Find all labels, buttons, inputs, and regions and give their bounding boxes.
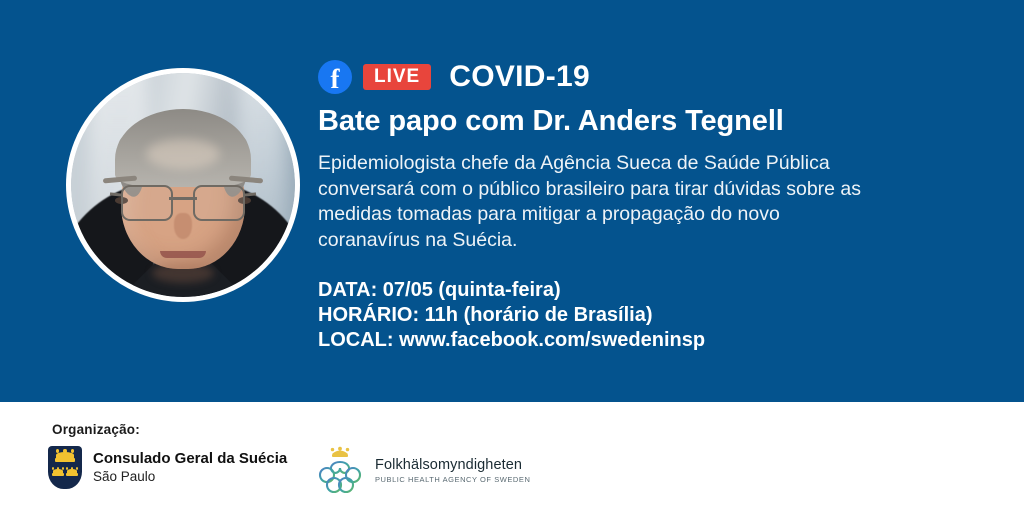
agency-crown-icon [331,447,349,457]
avatar [66,68,300,302]
agency-logo-lockup: Folkhälsomyndigheten PUBLIC HEALTH AGENC… [314,446,530,494]
event-details: DATA: 07/05 (quinta-feira) HORÁRIO: 11h … [318,278,918,353]
crown-top-icon [55,449,75,462]
folkhalsomyndigheten-emblem-icon [314,446,366,494]
glasses-lens-right [193,185,245,221]
agency-knot-icon [320,462,360,492]
glasses-bridge [169,197,197,200]
event-detail-location: LOCAL: www.facebook.com/swedeninsp [318,328,918,353]
portrait-mouth [160,251,206,258]
swedish-three-crowns-shield-icon [48,446,82,489]
portrait-photo [71,73,295,297]
crown-right-icon [66,467,78,476]
consulate-logo-lockup: Consulado Geral da Suécia São Paulo [48,446,287,489]
hero-panel: f LIVE COVID-19 Bate papo com Dr. Anders… [0,0,1024,402]
glasses-lens-left [121,185,173,221]
page-title: Bate papo com Dr. Anders Tegnell [318,105,918,138]
topic-title: COVID-19 [449,60,590,94]
description-paragraph: Epidemiologista chefe da Agência Sueca d… [318,151,878,253]
consulate-city: São Paulo [93,469,287,485]
event-detail-time: HORÁRIO: 11h (horário de Brasília) [318,303,918,328]
event-poster: f LIVE COVID-19 Bate papo com Dr. Anders… [0,0,1024,512]
facebook-icon[interactable]: f [318,60,352,94]
portrait-nose [174,213,192,239]
organizer-label: Organização: [52,422,140,437]
hero-content: f LIVE COVID-19 Bate papo com Dr. Anders… [318,58,918,353]
agency-subtitle: PUBLIC HEALTH AGENCY OF SWEDEN [375,475,530,484]
crown-left-icon [52,467,64,476]
agency-text: Folkhälsomyndigheten PUBLIC HEALTH AGENC… [375,457,530,484]
live-badge-row: f LIVE COVID-19 [318,58,918,96]
portrait-chin-shadow [152,263,214,283]
agency-name: Folkhälsomyndigheten [375,457,530,473]
facebook-glyph: f [318,64,352,94]
event-detail-date: DATA: 07/05 (quinta-feira) [318,278,918,303]
consulate-text: Consulado Geral da Suécia São Paulo [93,450,287,485]
footer-panel: Organização: [0,402,1024,512]
agency-emblem-svg [314,446,366,494]
live-badge: LIVE [363,64,431,90]
portrait-forehead-highlight [146,139,220,169]
consulate-name: Consulado Geral da Suécia [93,450,287,467]
